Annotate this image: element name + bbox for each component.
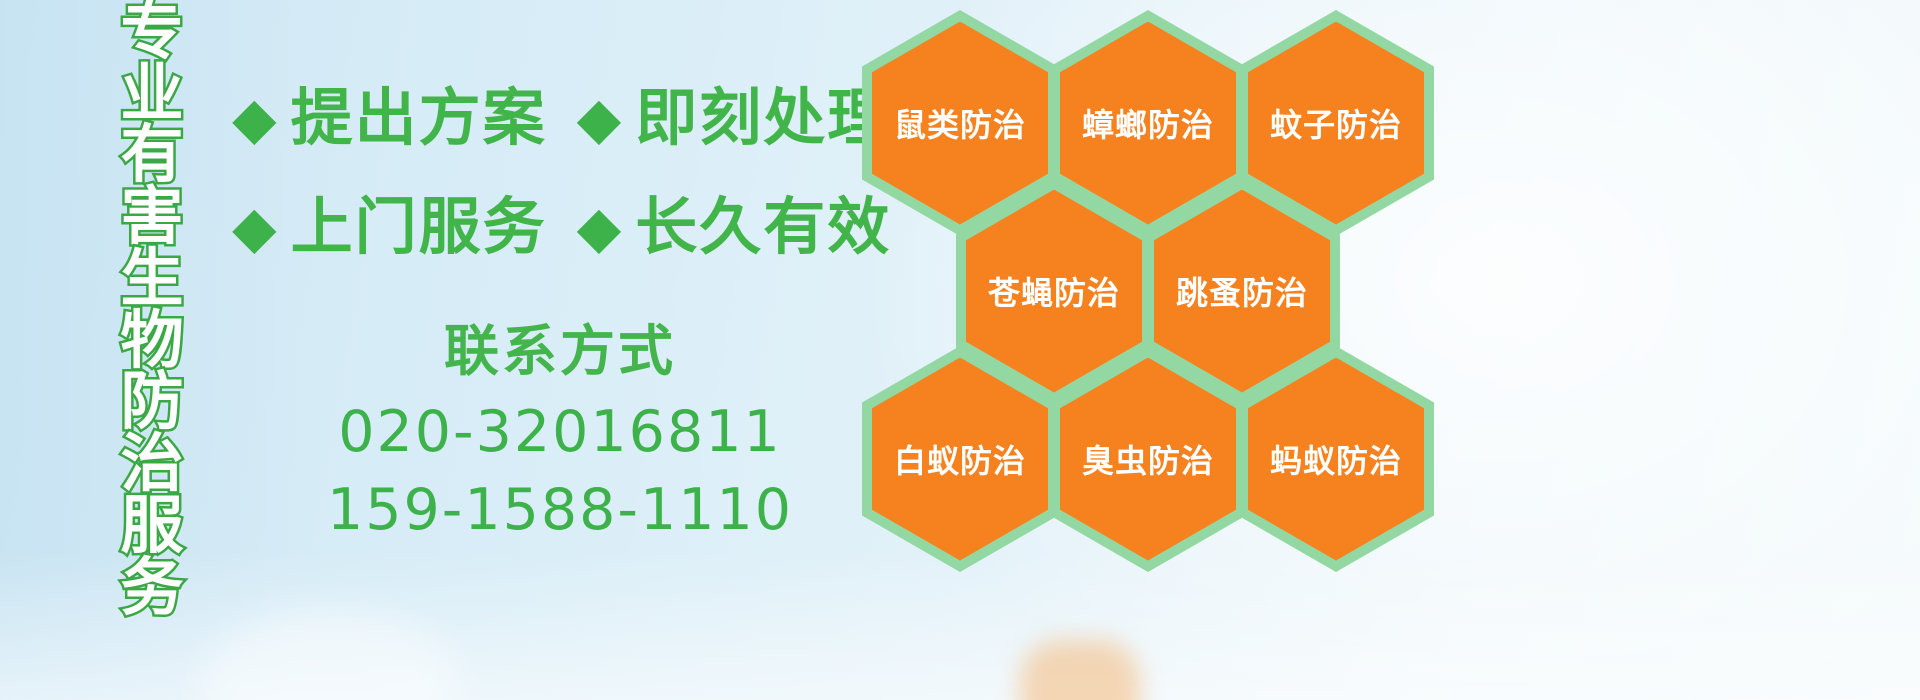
service-honeycomb: 鼠类防治 蟑螂防治 蚊子防治 苍蝇防治 跳蚤防治 白蚁防治 (856, 0, 1476, 580)
hex-inner: 蚂蚁防治 (1248, 358, 1424, 561)
feature-label-long-lasting-effect: 长久有效 (635, 197, 891, 259)
contact-heading: 联系方式 (300, 318, 820, 384)
feature-label-immediate-handling: 即刻处理 (635, 88, 891, 150)
contact-block: 联系方式 020-32016811 159-1588-1110 (300, 318, 820, 549)
hex-inner: 蚊子防治 (1248, 22, 1424, 225)
hex-inner: 白蚁防治 (872, 358, 1048, 561)
phone-number-mobile[interactable]: 159-1588-1110 (300, 472, 820, 550)
hex-label: 鼠类防治 (894, 100, 1026, 146)
vertical-slogan: 专 业 有 害 生 物 防 治 服 务 (104, 2, 200, 580)
feature-line-1: ◆ 提出方案 ◆ 即刻处理 (232, 88, 891, 150)
hex-label: 蚂蚁防治 (1270, 436, 1402, 482)
vertical-slogan-char: 服 (121, 496, 184, 558)
phone-number-landline[interactable]: 020-32016811 (300, 394, 820, 472)
vertical-slogan-char: 业 (121, 64, 184, 126)
hex-label: 蚊子防治 (1270, 100, 1402, 146)
hex-inner: 蟑螂防治 (1060, 22, 1236, 225)
diamond-bullet-icon: ◆ (232, 199, 277, 257)
feature-line-2: ◆ 上门服务 ◆ 长久有效 (232, 197, 891, 259)
diamond-bullet-icon: ◆ (577, 90, 622, 148)
pest-control-banner: 专 业 有 害 生 物 防 治 服 务 ◆ 提出方案 ◆ 即刻处理 ◆ 上门服务… (0, 0, 1920, 700)
vertical-slogan-char: 物 (121, 311, 184, 373)
feature-label-propose-plan: 提出方案 (291, 88, 547, 150)
diamond-bullet-icon: ◆ (577, 199, 622, 257)
hex-label: 苍蝇防治 (988, 268, 1120, 314)
vertical-slogan-char: 生 (121, 249, 184, 311)
diamond-bullet-icon: ◆ (232, 90, 277, 148)
vertical-slogan-char: 害 (121, 187, 184, 249)
hex-inner: 鼠类防治 (872, 22, 1048, 225)
hex-label: 跳蚤防治 (1176, 268, 1308, 314)
vertical-slogan-char: 务 (121, 558, 184, 620)
hex-inner: 臭虫防治 (1060, 358, 1236, 561)
hex-label: 臭虫防治 (1082, 436, 1214, 482)
feature-label-door-to-door-service: 上门服务 (291, 197, 547, 259)
background-blob-left (200, 610, 460, 700)
vertical-slogan-char: 有 (121, 125, 184, 187)
vertical-slogan-char: 专 (121, 2, 184, 64)
hex-label: 蟑螂防治 (1082, 100, 1214, 146)
hex-label: 白蚁防治 (894, 436, 1026, 482)
vertical-slogan-char: 治 (121, 434, 184, 496)
background-blob-orange (1020, 640, 1140, 700)
hex-inner: 苍蝇防治 (966, 190, 1142, 393)
vertical-slogan-char: 防 (121, 372, 184, 434)
hex-inner: 跳蚤防治 (1154, 190, 1330, 393)
